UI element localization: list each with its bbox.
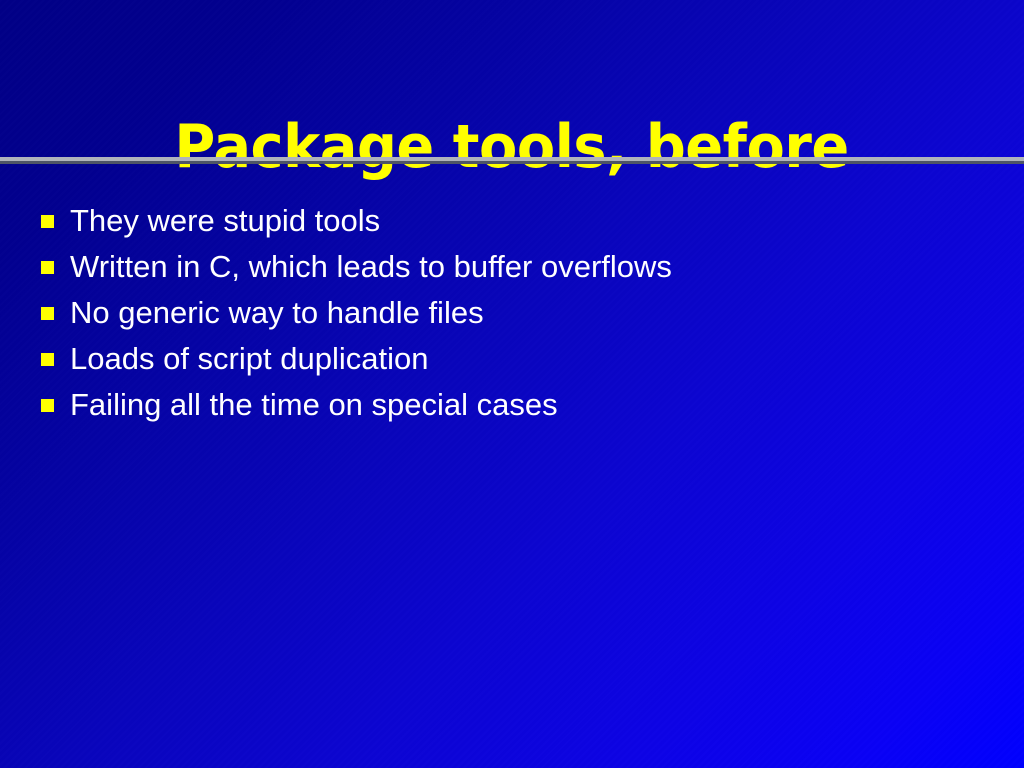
square-bullet-icon xyxy=(41,215,54,228)
bullet-list: They were stupid tools Written in C, whi… xyxy=(38,198,988,428)
list-item-label: Loads of script duplication xyxy=(70,336,428,382)
square-bullet-icon xyxy=(41,353,54,366)
square-bullet-icon xyxy=(41,399,54,412)
list-item: They were stupid tools xyxy=(38,198,988,244)
square-bullet-icon xyxy=(41,261,54,274)
list-item-label: Failing all the time on special cases xyxy=(70,382,558,428)
list-item: Loads of script duplication xyxy=(38,336,988,382)
list-item-label: No generic way to handle files xyxy=(70,290,484,336)
list-item-label: They were stupid tools xyxy=(70,198,380,244)
separator-shadow-line xyxy=(0,161,1024,164)
list-item: Written in C, which leads to buffer over… xyxy=(38,244,988,290)
presentation-slide: Package tools, before They were stupid t… xyxy=(0,0,1024,768)
square-bullet-icon xyxy=(41,307,54,320)
list-item: No generic way to handle files xyxy=(38,290,988,336)
page-title: Package tools, before xyxy=(175,114,849,180)
list-item: Failing all the time on special cases xyxy=(38,382,988,428)
list-item-label: Written in C, which leads to buffer over… xyxy=(70,244,672,290)
title-separator-rule xyxy=(0,157,1024,164)
